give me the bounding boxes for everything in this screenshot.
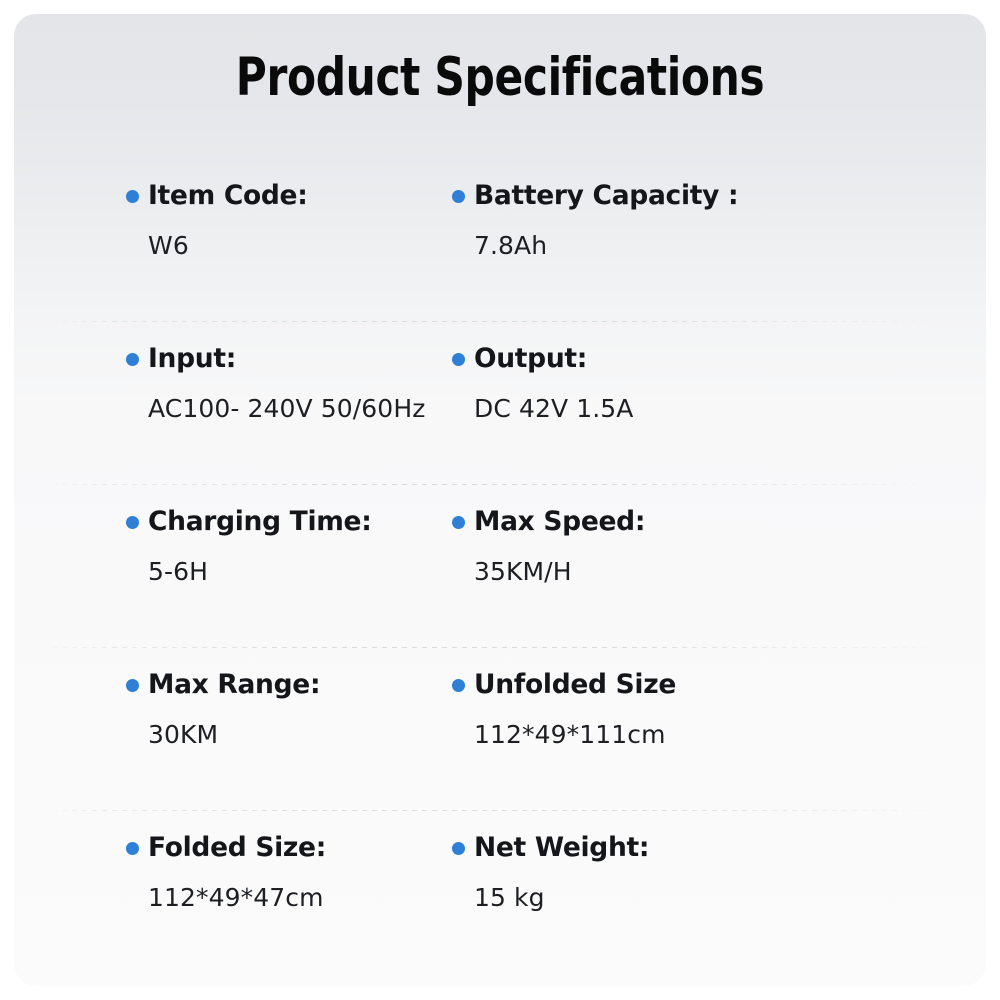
spec-label-line: Max Speed: — [452, 506, 986, 540]
spec-item-charging-time: Charging Time: 5-6H — [14, 484, 428, 647]
spec-value: 5-6H — [148, 559, 428, 584]
spec-row: Folded Size: 112*49*47cm Net Weight: 15 … — [14, 810, 986, 973]
bullet-dot-icon — [126, 353, 139, 366]
spec-item-output: Output: DC 42V 1.5A — [428, 321, 986, 484]
spec-value: 7.8Ah — [474, 233, 986, 258]
spec-value: DC 42V 1.5A — [474, 396, 986, 421]
spec-label-line: Item Code: — [126, 180, 428, 214]
spec-item-folded-size: Folded Size: 112*49*47cm — [14, 810, 428, 973]
spec-item-max-speed: Max Speed: 35KM/H — [428, 484, 986, 647]
spec-item-battery-capacity: Battery Capacity : 7.8Ah — [428, 158, 986, 321]
specifications-list: Item Code: W6 Battery Capacity : 7.8Ah I… — [14, 158, 986, 973]
spec-label-line: Output: — [452, 343, 986, 377]
spec-row: Max Range: 30KM Unfolded Size 112*49*111… — [14, 647, 986, 810]
bullet-dot-icon — [452, 679, 465, 692]
bullet-dot-icon — [126, 516, 139, 529]
spec-value: 30KM — [148, 722, 428, 747]
spec-value: 35KM/H — [474, 559, 986, 584]
bullet-dot-icon — [126, 190, 139, 203]
bullet-dot-icon — [126, 842, 139, 855]
bullet-dot-icon — [452, 842, 465, 855]
spec-label: Battery Capacity : — [474, 183, 738, 210]
spec-label: Unfolded Size — [474, 672, 676, 699]
spec-label: Max Speed: — [474, 509, 645, 536]
spec-value: W6 — [148, 233, 428, 258]
spec-item-max-range: Max Range: 30KM — [14, 647, 428, 810]
spec-value: 15 kg — [474, 885, 986, 910]
spec-row: Item Code: W6 Battery Capacity : 7.8Ah — [14, 158, 986, 321]
bullet-dot-icon — [126, 679, 139, 692]
spec-row: Charging Time: 5-6H Max Speed: 35KM/H — [14, 484, 986, 647]
spec-value: 112*49*111cm — [474, 722, 986, 747]
page-title: Product Specifications — [111, 14, 889, 106]
spec-value: 112*49*47cm — [148, 885, 428, 910]
spec-label: Output: — [474, 346, 587, 373]
bullet-dot-icon — [452, 516, 465, 529]
spec-label-line: Net Weight: — [452, 832, 986, 866]
spec-row: Input: AC100- 240V 50/60Hz Output: DC 42… — [14, 321, 986, 484]
spec-label-line: Input: — [126, 343, 428, 377]
spec-item-item-code: Item Code: W6 — [14, 158, 428, 321]
spec-label-line: Charging Time: — [126, 506, 428, 540]
bullet-dot-icon — [452, 190, 465, 203]
product-specifications-card: Product Specifications Item Code: W6 Bat… — [14, 14, 986, 986]
spec-item-net-weight: Net Weight: 15 kg — [428, 810, 986, 973]
spec-label: Charging Time: — [148, 509, 372, 536]
spec-label-line: Max Range: — [126, 669, 428, 703]
spec-item-input: Input: AC100- 240V 50/60Hz — [14, 321, 428, 484]
spec-label: Max Range: — [148, 672, 320, 699]
spec-label: Net Weight: — [474, 835, 649, 862]
spec-label: Folded Size: — [148, 835, 326, 862]
bullet-dot-icon — [452, 353, 465, 366]
spec-label: Item Code: — [148, 183, 308, 210]
spec-label-line: Folded Size: — [126, 832, 428, 866]
spec-item-unfolded-size: Unfolded Size 112*49*111cm — [428, 647, 986, 810]
spec-label-line: Battery Capacity : — [452, 180, 986, 214]
spec-label: Input: — [148, 346, 236, 373]
spec-value: AC100- 240V 50/60Hz — [148, 396, 428, 421]
spec-label-line: Unfolded Size — [452, 669, 986, 703]
